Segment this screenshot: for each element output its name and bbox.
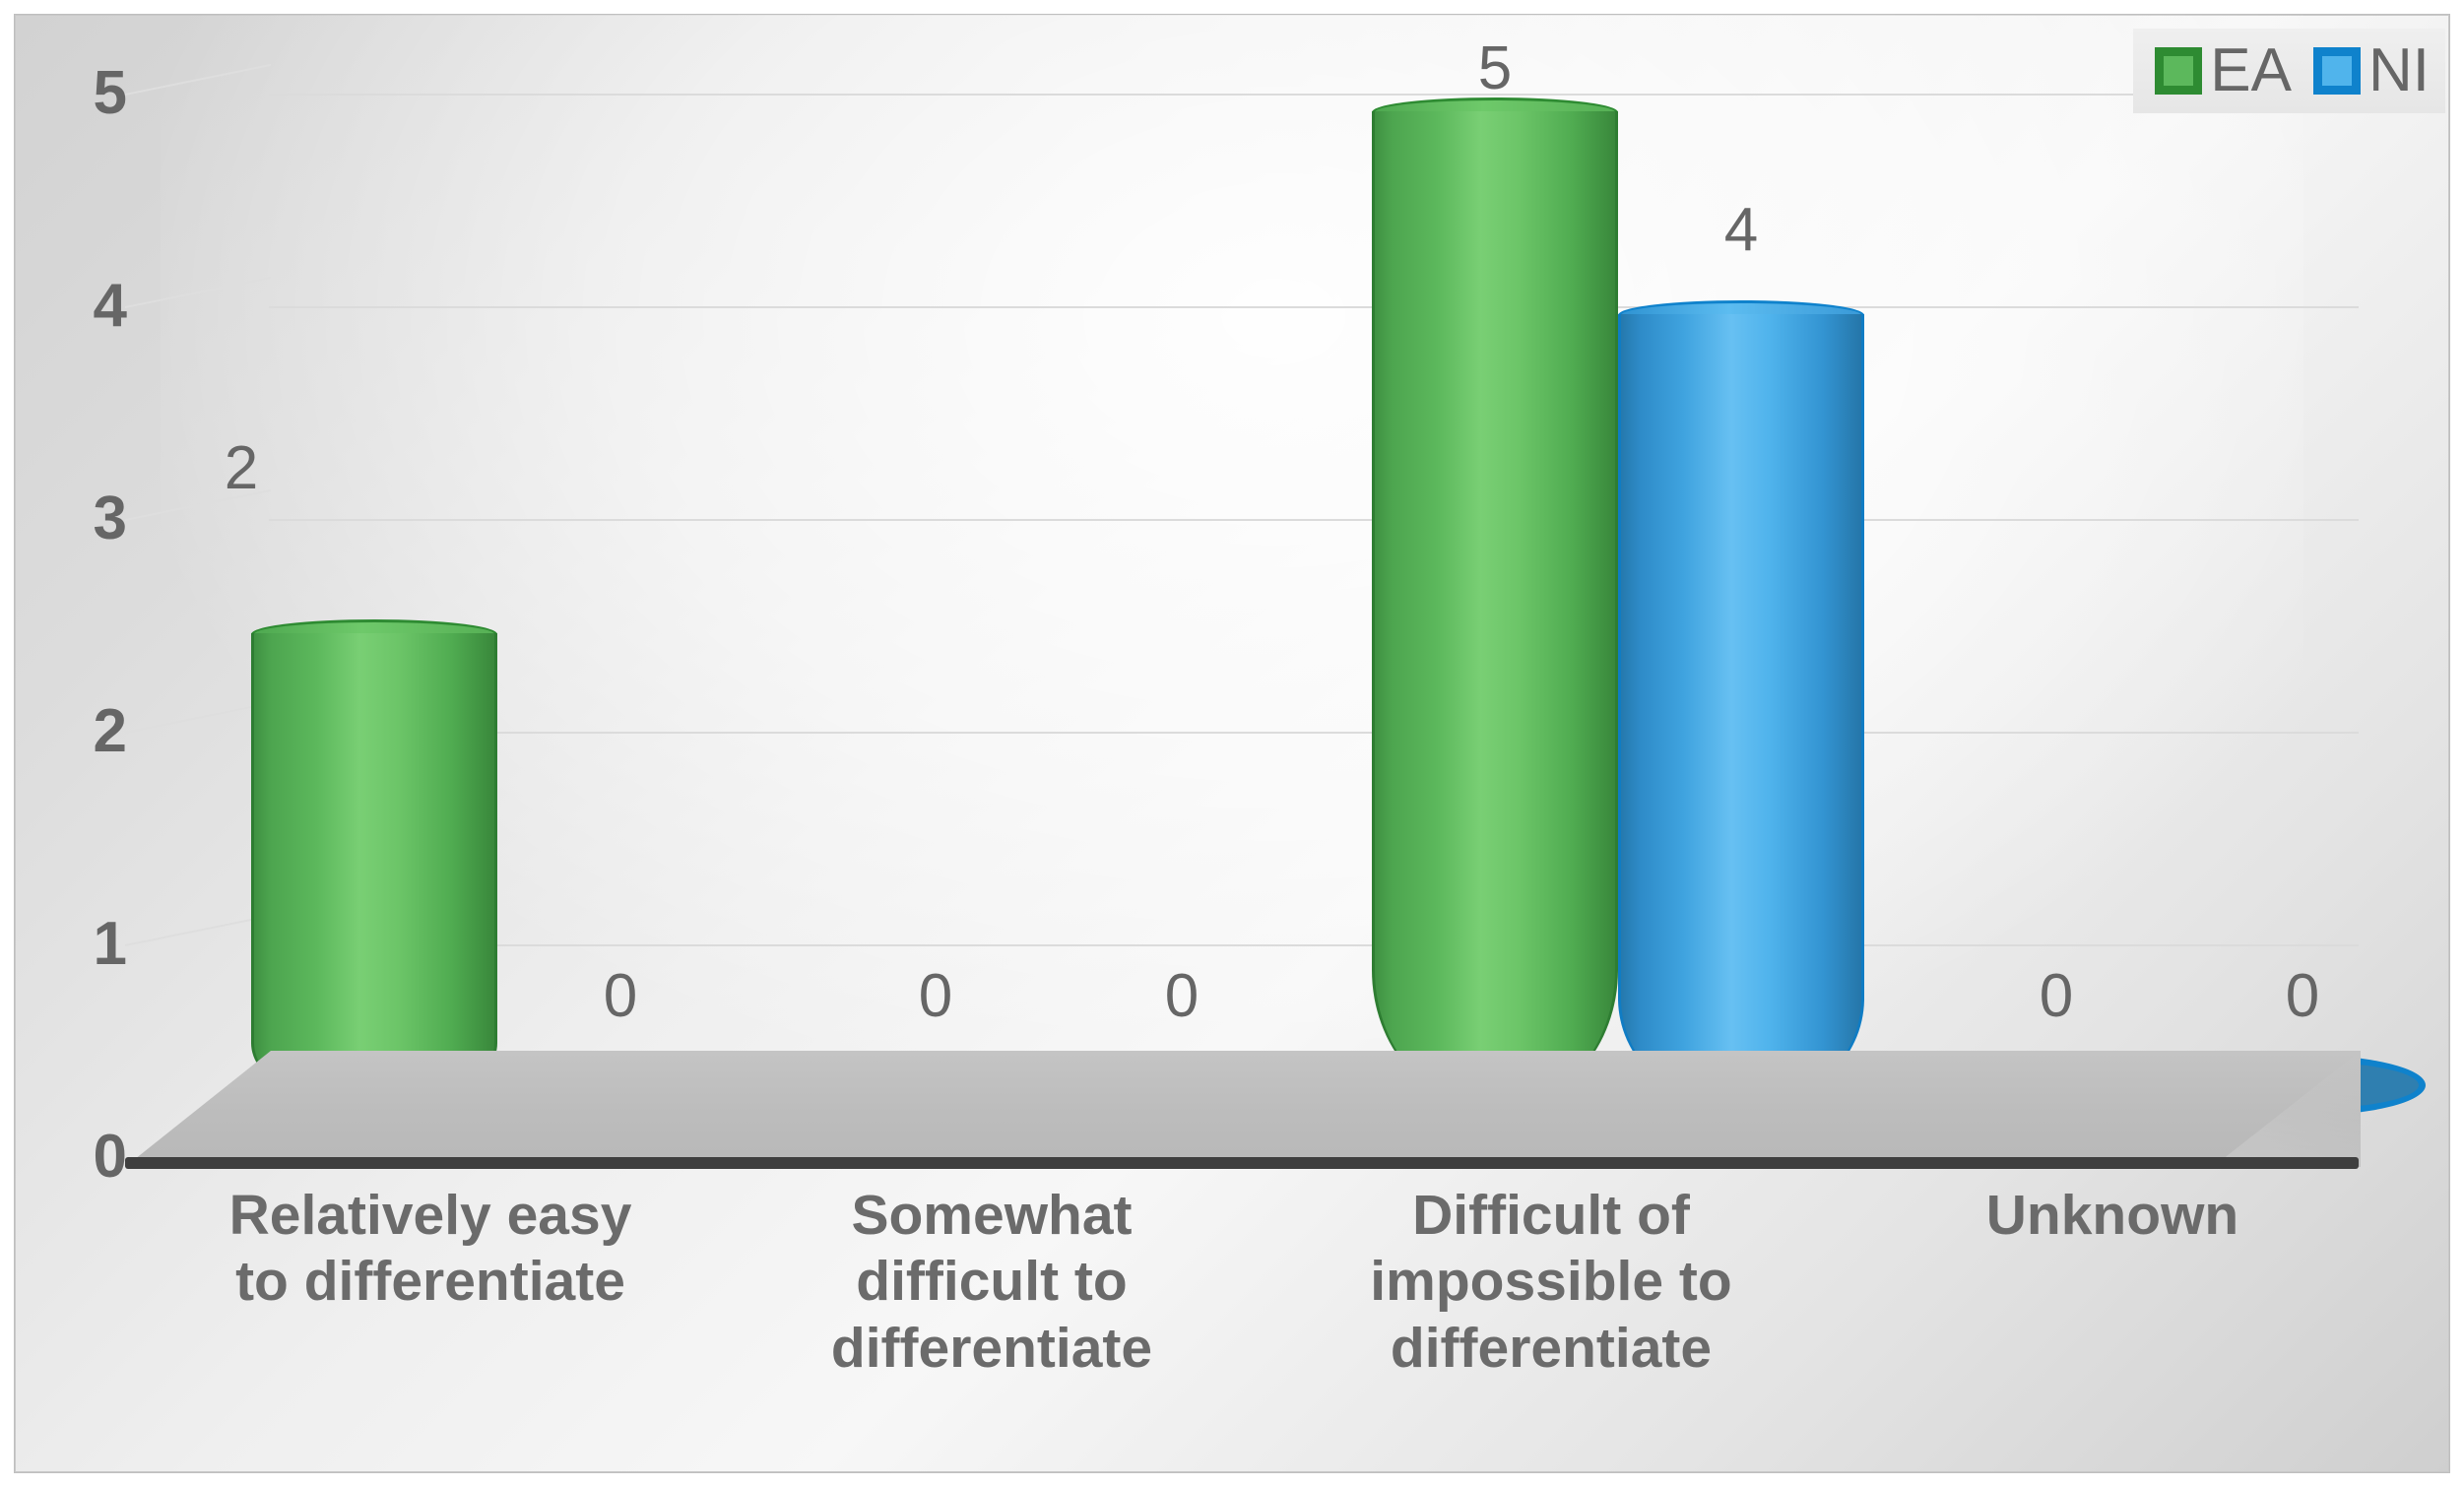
blue-swatch-icon: [2313, 47, 2361, 95]
zero-disc-ni: [2179, 1055, 2426, 1116]
x-axis-categories: Relatively easy to differentiate Somewha…: [125, 1183, 2359, 1468]
category-label-unknown: Unknown: [1837, 1183, 2388, 1249]
y-tick-label: 1: [14, 914, 127, 975]
zero-disc-ni: [1059, 1055, 1305, 1116]
legend-label-ni: NI: [2368, 40, 2430, 101]
bar-ea-somewhat-difficult[interactable]: 0: [812, 27, 1059, 1110]
category-label-difficult-impossible: Difficult of impossible to differentiate: [1275, 1183, 1827, 1382]
value-label-ni-unknown: 0: [2046, 966, 2450, 1027]
category-label-relatively-easy: Relatively easy to differentiate: [155, 1183, 706, 1316]
legend-label-ea: EA: [2210, 40, 2292, 101]
zero-disc-ni: [497, 1055, 744, 1116]
cylinder-body: [1372, 111, 1618, 1110]
y-tick-label: 4: [14, 276, 127, 337]
legend-entry-ni[interactable]: NI: [2313, 40, 2430, 101]
bar-ea-relatively-easy[interactable]: 2: [251, 27, 497, 1110]
cylinder-ea-green: [251, 619, 497, 1110]
y-tick-label: 0: [14, 1127, 127, 1188]
cylinder-base-arc: [251, 1096, 497, 1124]
legend-entry-ea[interactable]: EA: [2155, 40, 2292, 101]
plot-area: 2 0 0 0: [125, 27, 2359, 1110]
category-label-somewhat-difficult: Somewhat difficult to differentiate: [716, 1183, 1267, 1382]
y-tick-label: 5: [14, 63, 127, 124]
bar-ni-relatively-easy[interactable]: 0: [497, 27, 744, 1110]
cylinder-body: [251, 633, 497, 1110]
bar-group-relatively-easy: 2 0: [233, 27, 746, 1110]
bar-group-unknown: 0 0: [1915, 27, 2428, 1110]
bar-ea-difficult-impossible[interactable]: 5: [1372, 27, 1618, 1110]
chart-frame: 5 4 3 2 1 0 2: [14, 14, 2450, 1473]
bar-ni-unknown[interactable]: 0: [2179, 27, 2426, 1110]
y-tick-label: 2: [14, 701, 127, 762]
cylinder-base-arc: [1372, 1096, 1618, 1124]
bar-ni-difficult-impossible[interactable]: 4: [1618, 27, 1864, 1110]
value-label-ea-relatively-easy: 2: [14, 438, 497, 499]
x-axis-line: [125, 1157, 2359, 1169]
bar-ea-unknown[interactable]: 0: [1933, 27, 2179, 1110]
bar-group-somewhat-difficult: 0 0: [795, 27, 1307, 1110]
bar-ni-somewhat-difficult[interactable]: 0: [1059, 27, 1305, 1110]
chart-legend[interactable]: EA NI: [2133, 29, 2445, 113]
cylinder-base-arc: [1618, 1096, 1864, 1124]
bar-group-difficult-impossible: 5 4: [1354, 27, 1866, 1110]
zero-disc-ea: [1933, 1053, 2179, 1114]
zero-disc-ea: [812, 1053, 1059, 1114]
green-swatch-icon: [2155, 47, 2202, 95]
